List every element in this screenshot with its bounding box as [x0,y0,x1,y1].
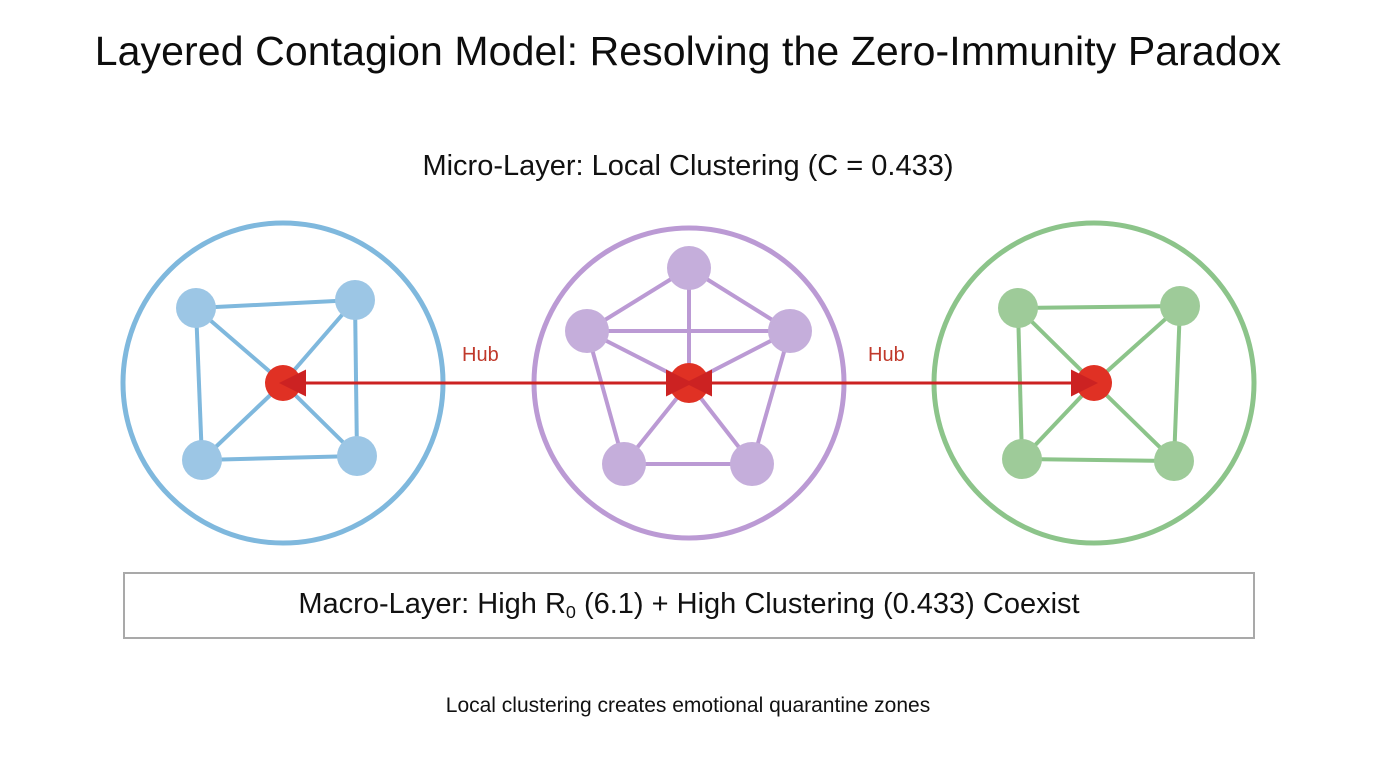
macro-layer-text: Macro-Layer: High R0 (6.1) + High Cluste… [298,590,1079,621]
macro-subscript: 0 [566,602,576,622]
hub-label-left: Hub [462,344,499,367]
macro-layer-box: Macro-Layer: High R0 (6.1) + High Cluste… [123,572,1255,639]
slide-canvas: Layered Contagion Model: Resolving the Z… [0,0,1376,768]
hub-node-green[interactable] [1076,365,1112,401]
node-blue-4[interactable] [337,436,377,476]
macro-prefix: Macro-Layer: High R [298,588,566,620]
node-green-2[interactable] [1160,286,1200,326]
node-purple-2[interactable] [565,309,609,353]
node-purple-3[interactable] [768,309,812,353]
footer-caption: Local clustering creates emotional quara… [0,694,1376,718]
hub-node-purple[interactable] [669,363,709,403]
node-purple-1[interactable] [667,246,711,290]
macro-suffix: (6.1) + High Clustering (0.433) Coexist [576,588,1080,620]
cluster-network-diagram [0,0,1376,768]
hub-node-blue[interactable] [265,365,301,401]
node-purple-5[interactable] [730,442,774,486]
node-green-1[interactable] [998,288,1038,328]
node-purple-4[interactable] [602,442,646,486]
node-blue-2[interactable] [335,280,375,320]
node-blue-3[interactable] [182,440,222,480]
hub-label-right: Hub [868,344,905,367]
node-green-3[interactable] [1002,439,1042,479]
node-green-4[interactable] [1154,441,1194,481]
node-blue-1[interactable] [176,288,216,328]
